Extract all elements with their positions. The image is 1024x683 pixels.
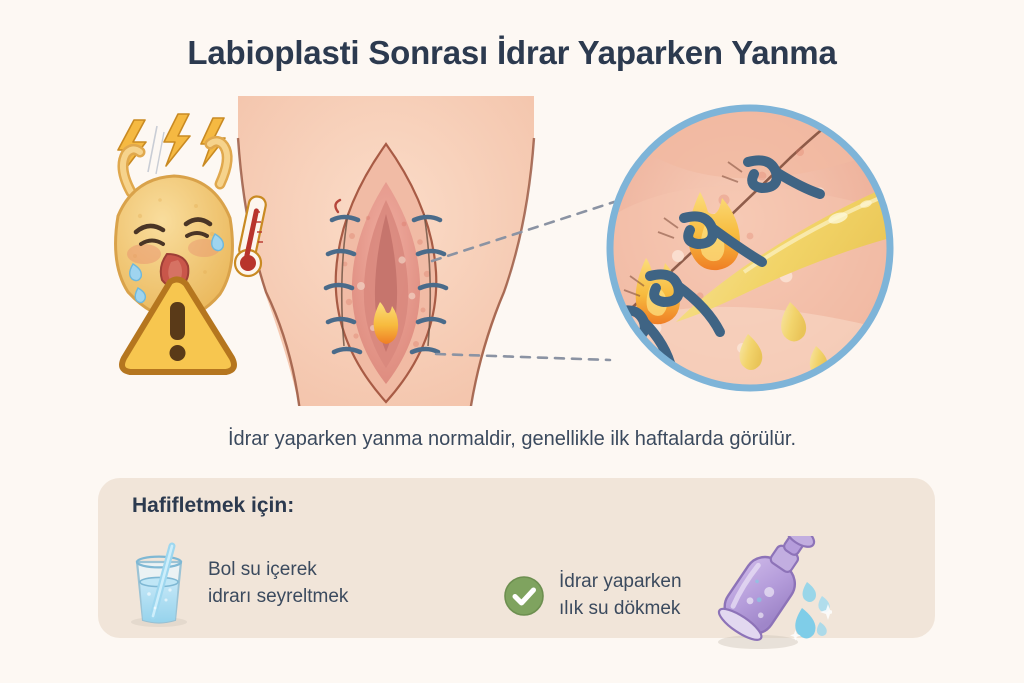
tip-text-hydration: Bol su içerek idrarı seyreltmek [208, 557, 348, 611]
main-illustration [0, 96, 1024, 406]
magnified-suture-detail [600, 96, 930, 396]
tips-panel: Hafifletmek için: [98, 478, 935, 638]
tips-heading: Hafifletmek için: [132, 494, 294, 518]
water-glass-icon [120, 538, 198, 630]
check-circle-icon [503, 575, 545, 617]
infographic-root: Labioplasti Sonrası İdrar Yaparken Yanma [0, 0, 1024, 683]
squeeze-bottle-icon [702, 536, 832, 656]
tip-text-warm-water: İdrar yaparken ılık su dökmek [559, 569, 682, 623]
page-title: Labioplasti Sonrası İdrar Yaparken Yanma [0, 34, 1024, 72]
caption-text: İdrar yaparken yanma normaldir, genellik… [0, 428, 1024, 451]
tip-item-warm-water: İdrar yaparken ılık su dökmek [503, 536, 832, 656]
anatomy-illustration [238, 96, 534, 406]
water-droplet-icon [795, 582, 829, 639]
tip-item-hydration: Bol su içerek idrarı seyreltmek [120, 538, 348, 630]
